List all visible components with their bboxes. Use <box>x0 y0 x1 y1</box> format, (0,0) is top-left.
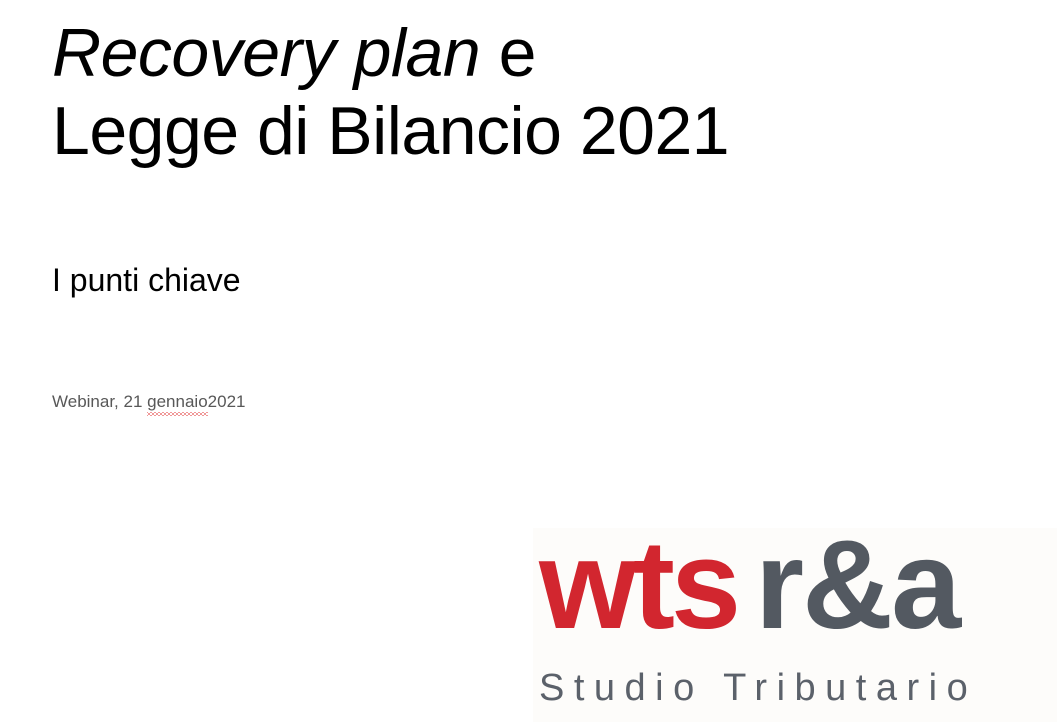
logo-wts-text: wts <box>539 514 737 655</box>
date-year: 2021 <box>208 392 246 411</box>
spellcheck-misspelled-word: gennaio <box>147 391 208 414</box>
title-line-1-rest: e <box>480 15 536 91</box>
logo-wordmark-area: wtsr&a <box>537 528 1053 652</box>
title-line-2: Legge di Bilancio 2021 <box>52 92 992 170</box>
slide-date-line: Webinar, 21 gennaio 2021 <box>52 391 245 414</box>
company-logo: wtsr&a Studio Tributario <box>533 528 1057 722</box>
logo-ra-text: r&a <box>755 514 959 655</box>
title-line-1: Recovery plan e <box>52 14 992 92</box>
slide-subtitle: I punti chiave <box>52 261 241 299</box>
logo-wordmark: wtsr&a <box>539 522 959 648</box>
presentation-slide: Recovery plan e Legge di Bilancio 2021 I… <box>0 0 1057 722</box>
slide-title: Recovery plan e Legge di Bilancio 2021 <box>52 14 992 170</box>
date-prefix: Webinar, 21 <box>52 392 147 411</box>
title-emphasis: Recovery plan <box>52 15 480 91</box>
logo-tagline: Studio Tributario <box>539 666 977 710</box>
